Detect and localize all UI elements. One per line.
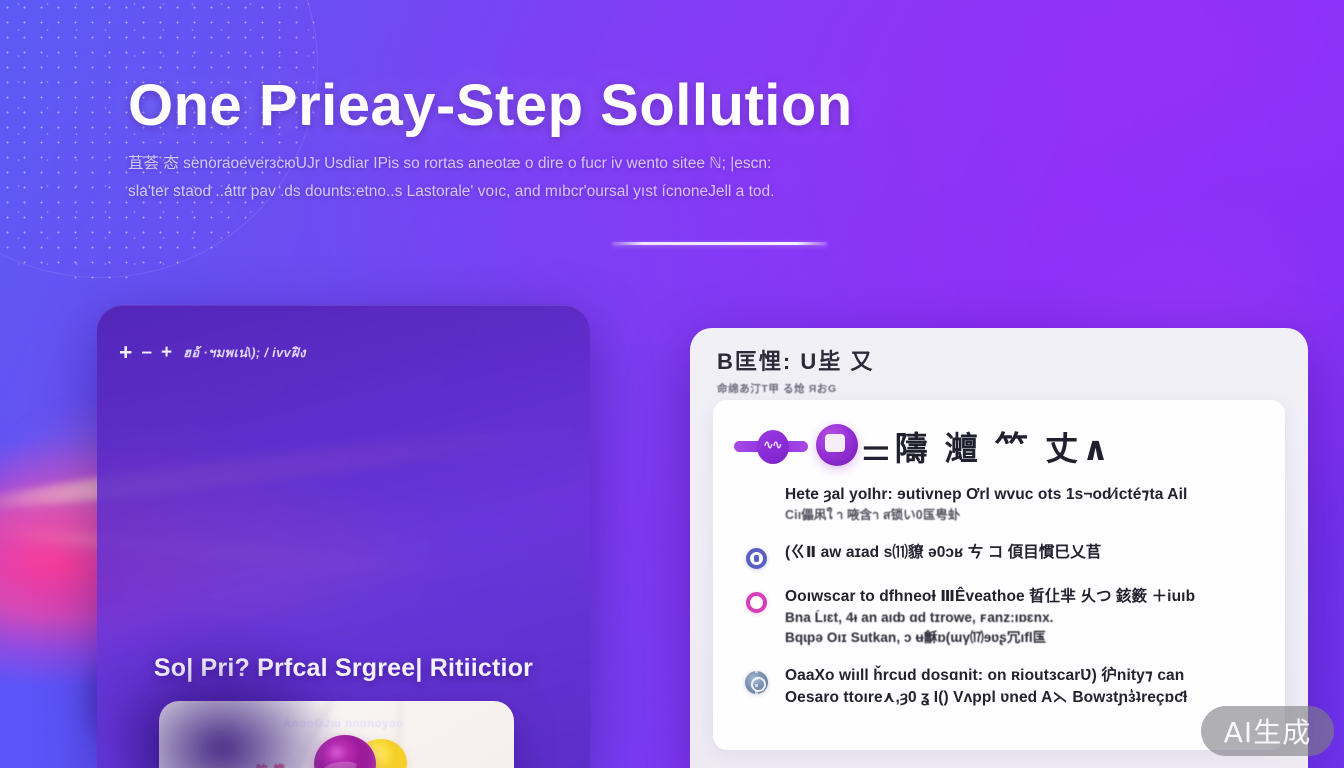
magenta-blob-icon xyxy=(314,735,376,768)
list-item[interactable]: Ooıwscar to dfhneoƗ ⅢÊveathoe 晢仩芈 乆つ 䤤䉤 … xyxy=(727,586,1273,648)
ai-generated-watermark: AI生成 xyxy=(1201,706,1334,756)
left-card-toolbar[interactable]: + – + ฮอ้ ·ฯมพเน่\); / ivvฝิง xyxy=(119,341,306,364)
list-item[interactable]: OaaXo wiıll ȟrcud dosɑnit: on ʀioutɜcarƲ… xyxy=(727,665,1273,709)
list-item-text: OaaXo wiıll ȟrcud dosɑnit: on ʀioutɜcarƲ… xyxy=(785,665,1273,709)
list-item[interactable]: Hete ȝal yoIhr: ɘutivnep Ơrl wvuc ots 1s… xyxy=(727,484,1273,525)
list-item-line-primary: OaaXo wiıll ȟrcud dosɑnit: on ʀioutɜcarƲ… xyxy=(785,665,1267,687)
left-feature-card[interactable]: + – + ฮอ้ ·ฯมพเน่\); / ivvฝิง 䀹 䑾 虃⺈ 像牮 … xyxy=(97,305,590,768)
list-item-line-secondary: Ciı儡凩ใ า 㖡含า ส锁い0匤甹虲 xyxy=(785,506,1267,525)
list-item-bullet xyxy=(727,484,785,490)
left-card-toolbar-label: ฮอ้ ·ฯมพเน่\); / ivvฝิง xyxy=(183,342,306,363)
list-item-line-continued: Oesaro ttoıre⋏,ȝ0 ʓ Ɩ() Vʌppl ʋned A⋋ Bo… xyxy=(785,687,1267,709)
left-card-caption: So| Pri? Prfcal Srgree| Ritiictior xyxy=(97,654,590,683)
page-title: One Prieay-Step Sollution xyxy=(128,70,853,142)
right-panel-subtitle: 命绵あ汀T甲 る炝 ЯおG xyxy=(717,381,874,396)
blue-ring-icon xyxy=(746,548,767,569)
poster-stage: One Prieay-Step Sollution 苴荟 态 senoraoev… xyxy=(0,0,1344,768)
feature-list: Hete ȝal yoIhr: ɘutivnep Ơrl wvuc ots 1s… xyxy=(727,484,1273,726)
hero-subtitle-line-1: 苴荟 态 senoraoeverзcюUJr Usdiar IPis so ro… xyxy=(128,150,1058,178)
list-item-line-detail-1: Bna Ĺıɛt, 4ᵻ an aıȸ ɑd tɪrowe, ꜰanz:ıɒɛn… xyxy=(785,608,1267,628)
right-feature-panel[interactable]: B匡悝: U坒 又 命绵あ汀T甲 る炝 ЯおG ∿∿ ⚌隯 灗 ⺮ 丈∧ Het… xyxy=(690,328,1308,768)
right-panel-content-card[interactable]: ∿∿ ⚌隯 灗 ⺮ 丈∧ Hete ȝal yoIhr: ɘutivnep Ơr… xyxy=(713,400,1285,750)
list-item-line-primary: Hete ȝal yoIhr: ɘutivnep Ơrl wvuc ots 1s… xyxy=(785,484,1267,506)
hero-subtitle-line-2: sla'ter staod ..áttr pav .ds dounts:etno… xyxy=(128,178,1058,206)
square-badge-icon xyxy=(816,424,858,466)
list-item-text: Ooıwscar to dfhneoƗ ⅢÊveathoe 晢仩芈 乆つ 䤤䉤 … xyxy=(785,586,1273,648)
watermark-label: AI生成 xyxy=(1224,711,1311,751)
left-card-subcaption: Ânon❾Jɯ nnonoyoo xyxy=(97,717,590,730)
hero-divider xyxy=(612,242,827,245)
pink-ring-icon xyxy=(746,592,767,613)
left-column-tag: 䀹 䑾 xyxy=(225,761,317,768)
list-item-line-primary: (ㄍⅡ aw aɪad s⑾䝤 ǝ0ɔʁ ㄘ コ 㑯目慣巳乂苢 xyxy=(785,542,1267,564)
right-panel-header: B匡悝: U坒 又 命绵あ汀T甲 る炝 ЯおG xyxy=(717,344,874,396)
hero-subtitle: 苴荟 态 senoraoeverзcюUJr Usdiar IPis so ro… xyxy=(128,150,1058,206)
list-item-line-detail-2: Bqɩpǝ Oıɪ Sutkan, ɔ ʉ龢ɒ(ɯγ⒄ɘʋʂ冗ıﬂ匤 xyxy=(785,628,1267,648)
list-item[interactable]: (ㄍⅡ aw aɪad s⑾䝤 ǝ0ɔʁ ㄘ コ 㑯目慣巳乂苢 xyxy=(727,542,1273,569)
minus-icon[interactable]: – xyxy=(141,343,152,362)
plus-icon[interactable]: + xyxy=(119,341,132,364)
marble-texture-veins xyxy=(159,701,514,768)
badge-square-glyph xyxy=(825,434,845,452)
list-item-bullet xyxy=(727,542,785,569)
plus-icon-secondary[interactable]: + xyxy=(161,343,172,362)
right-panel-title: B匡悝: U坒 又 xyxy=(717,344,874,376)
list-item-bullet xyxy=(727,665,785,694)
left-card-inner-panel[interactable]: 䀹 䑾 虃⺈ 像牮 镅厌 11 6ൕ 查 䂆乑 帯 䫂 ⺊ 窊 䑋 灯 白 65… xyxy=(159,701,514,768)
list-item-text: (ㄍⅡ aw aɪad s⑾䝤 ǝ0ɔʁ ㄘ コ 㑯目慣巳乂苢 xyxy=(785,542,1273,564)
list-item-text: Hete ȝal yoIhr: ɘutivnep Ơrl wvuc ots 1s… xyxy=(785,484,1273,525)
list-item-bullet xyxy=(727,586,785,613)
wing-badge-icon: ∿∿ xyxy=(734,428,806,466)
gear-icon xyxy=(745,671,768,694)
inner-panel-left-column: 䀹 䑾 虃⺈ 像牮 镅厌 11 6ൕ xyxy=(225,761,317,768)
list-item-line-primary: Ooıwscar to dfhneoƗ ⅢÊveathoe 晢仩芈 乆つ 䤤䉤 … xyxy=(785,586,1267,608)
wing-squiggle-icon: ∿∿ xyxy=(763,441,783,449)
right-panel-headline: ⚌隯 灗 ⺮ 丈∧ xyxy=(861,422,1113,470)
